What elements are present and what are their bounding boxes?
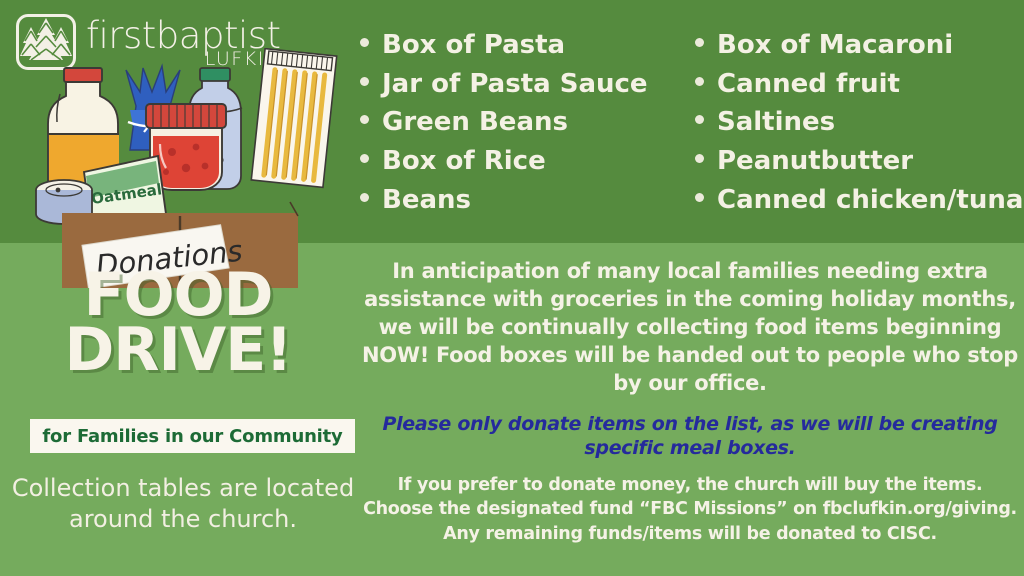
collection-note: Collection tables are located around the… [10, 473, 356, 534]
bullet-icon [695, 77, 704, 86]
spaghetti-pack-graphic [251, 49, 336, 188]
list-item: Box of Pasta [360, 30, 689, 61]
list-item: Canned chicken/tuna [695, 185, 1024, 216]
list-item: Saltines [695, 107, 1024, 138]
list-item: Box of Rice [360, 146, 689, 177]
bullet-icon [360, 154, 369, 163]
bullet-icon [695, 193, 704, 202]
food-list-column-2: Box of Macaroni Canned fruit Saltines Pe… [689, 30, 1024, 223]
food-item-label: Box of Macaroni [717, 30, 953, 61]
bullet-icon [360, 77, 369, 86]
food-item-label: Saltines [717, 107, 835, 138]
list-item: Peanutbutter [695, 146, 1024, 177]
food-item-label: Canned chicken/tuna [717, 185, 1023, 216]
food-item-label: Green Beans [382, 107, 568, 138]
list-item: Canned fruit [695, 69, 1024, 100]
donation-box-illustration: Oatmeal [0, 48, 356, 288]
food-list-column-1: Box of Pasta Jar of Pasta Sauce Green Be… [360, 30, 689, 223]
bullet-icon [695, 115, 704, 124]
subtitle-banner: for Families in our Community [30, 419, 355, 453]
copy-emphasis: Please only donate items on the list, as… [360, 412, 1020, 461]
list-item: Box of Macaroni [695, 30, 1024, 61]
food-drive-poster: firstbaptist LUFKIN [0, 0, 1024, 576]
copy-paragraph-3: If you prefer to donate money, the churc… [360, 473, 1020, 547]
list-item: Jar of Pasta Sauce [360, 69, 689, 100]
bullet-icon [695, 154, 704, 163]
food-item-label: Peanutbutter [717, 146, 913, 177]
headline-line-2: DRIVE! [0, 323, 356, 378]
food-item-label: Canned fruit [717, 69, 900, 100]
subtitle-banner-label: for Families in our Community [42, 426, 342, 447]
bullet-icon [695, 38, 704, 47]
copy-paragraph-1: In anticipation of many local families n… [360, 258, 1020, 398]
bullet-icon [360, 38, 369, 47]
page-title: FOOD DRIVE! [0, 268, 356, 378]
food-items-list: Box of Pasta Jar of Pasta Sauce Green Be… [360, 30, 1024, 223]
announcement-copy: In anticipation of many local families n… [360, 258, 1020, 546]
food-item-label: Jar of Pasta Sauce [382, 69, 648, 100]
food-item-label: Box of Pasta [382, 30, 565, 61]
bullet-icon [360, 115, 369, 124]
list-item: Beans [360, 185, 689, 216]
food-item-label: Box of Rice [382, 146, 546, 177]
list-item: Green Beans [360, 107, 689, 138]
food-item-label: Beans [382, 185, 471, 216]
bullet-icon [360, 193, 369, 202]
